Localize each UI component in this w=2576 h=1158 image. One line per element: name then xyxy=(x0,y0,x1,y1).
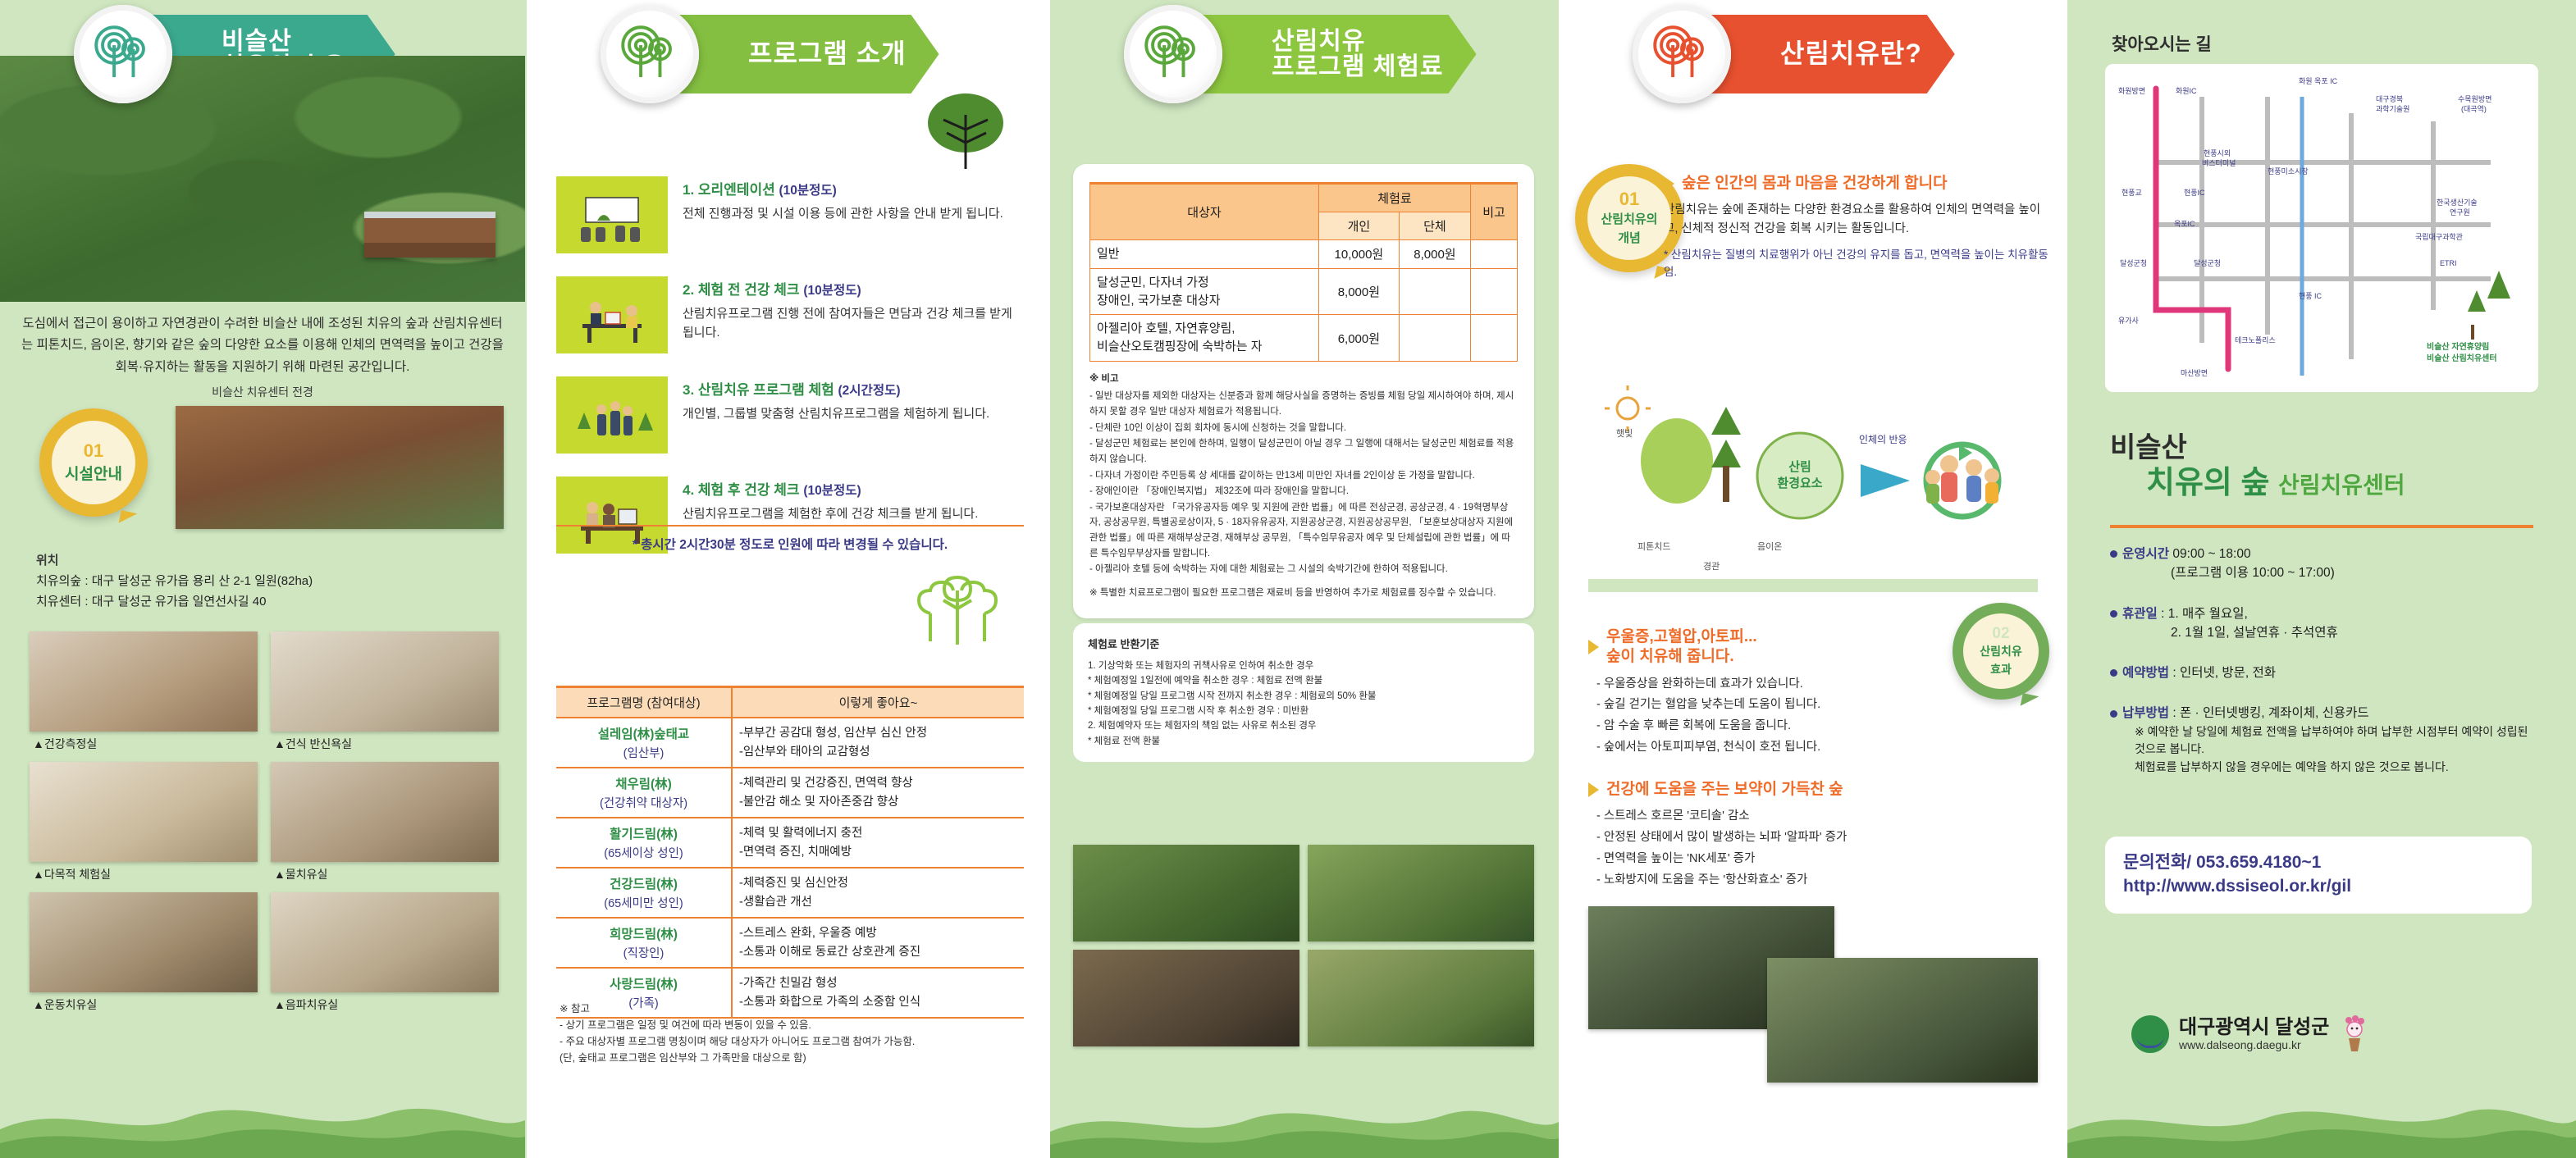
info-label: 예약방법 xyxy=(2122,666,2169,680)
concept-heading: 숲은 인간의 몸과 마음을 건강하게 합니다 xyxy=(1682,174,1948,194)
decorative-tree-icon xyxy=(920,90,1011,172)
panel3-title-line1: 산림치유 xyxy=(1272,29,1444,55)
tree-circle-logo-icon xyxy=(601,5,699,103)
program-total-time-note: * 총시간 2시간30분 정도로 인원에 따라 변경될 수 있습니다. xyxy=(556,535,1024,553)
program-benefit: -부부간 공감대 형성, 임산부 심신 안정 xyxy=(739,724,1017,742)
effect1-item: - 우울증상을 완화하는데 효과가 있습니다. xyxy=(1596,674,1982,695)
fee-target: 달성군민, 다자녀 가정 장애인, 국가보훈 대상자 xyxy=(1090,268,1319,315)
facility-thumb-caption: ▲물치유실 xyxy=(271,862,499,882)
program-name: 건강드림(林) xyxy=(563,874,724,892)
fee-header-feegroup: 체험료 xyxy=(1318,184,1470,212)
step-duration: (2시간정도) xyxy=(838,384,901,398)
step-number: 2. xyxy=(683,282,694,298)
fee-special-note: ※ 특별한 치료프로그램이 필요한 프로그램은 재료비 등을 반영하여 추가로 … xyxy=(1089,586,1518,601)
info-reservation-method: 예약방법 : 인터넷, 방문, 전화 xyxy=(2110,663,2537,682)
step-duration: (10분정도) xyxy=(803,284,861,298)
location-heading: 위치 xyxy=(36,551,496,572)
step-number: 3. xyxy=(683,382,694,398)
program-target: (65세이상 성인) xyxy=(563,844,724,861)
program-step: 1. 오리엔테이션 (10분정도) 전체 진행과정 및 시설 이용 등에 관한 … xyxy=(556,176,1024,253)
panel5-divider xyxy=(2110,525,2533,528)
effect1-heading-row: 우울증,고혈압,아토피... 숲이 치유해 줍니다. xyxy=(1588,627,1982,667)
map-label: 버스터미널 xyxy=(2202,159,2236,167)
fee-header-individual: 개인 xyxy=(1318,212,1399,240)
activity-photo xyxy=(1308,845,1534,941)
fee-target: 아젤리아 호텔, 자연휴양림, 비슬산오토캠핑장에 숙박하는 자 xyxy=(1090,315,1319,362)
fee-target: 일반 xyxy=(1090,240,1319,269)
effect1-list: - 우울증상을 완화하는데 효과가 있습니다. - 숲길 걷기는 혈압을 낮추는… xyxy=(1588,674,1982,759)
map-label: 현풍시외 xyxy=(2204,148,2231,157)
facility-thumb: ▲건식 반신욕실 xyxy=(271,631,499,752)
table-row: 희망드림(林) (직장인) -스트레스 완화, 우울증 예방 -소통과 이해로 … xyxy=(556,918,1024,968)
table-row: 설레임(林)숲태교 (임산부) -부부간 공감대 형성, 임산부 심신 안정 -… xyxy=(556,718,1024,768)
effect1-item: - 숲길 걷기는 혈압을 낮추는데 도움이 됩니다. xyxy=(1596,695,1982,716)
fee-note-item: - 다자녀 가정이란 주민등록 상 세대를 같이하는 만13세 미만인 자녀를 … xyxy=(1089,468,1518,484)
map-label: 현풍IC xyxy=(2184,189,2205,197)
center-title-line1: 비슬산 xyxy=(2110,433,2537,463)
directions-title: 찾아오시는 길 xyxy=(2112,31,2212,56)
fee-group xyxy=(1399,268,1470,315)
map-label: (대곡역) xyxy=(2461,105,2487,113)
forest-environment-diagram: 햇빛 산림 환경요소 인체의 반응 xyxy=(1588,385,2038,607)
fee-header-remark: 비고 xyxy=(1471,184,1518,240)
effect1-heading-line1: 우울증,고혈압,아토피... xyxy=(1606,628,1757,645)
fee-group xyxy=(1399,315,1470,362)
hill-decoration xyxy=(1050,1084,1559,1158)
info-sub: 2. 1월 1일, 설날연휴 · 추석연휴 xyxy=(2171,623,2537,642)
fee-individual: 6,000원 xyxy=(1318,315,1399,362)
table-row: 아젤리아 호텔, 자연휴양림, 비슬산오토캠핑장에 숙박하는 자 6,000원 xyxy=(1090,315,1518,362)
facility-thumb: ▲다목적 체험실 xyxy=(30,762,258,882)
fee-header-group: 단체 xyxy=(1399,212,1470,240)
map-label: 옥포IC xyxy=(2174,220,2195,228)
fee-note-item: - 일반 대상자를 제외한 대상자는 신분증과 함께 해당사실을 증명하는 증빙… xyxy=(1089,389,1518,419)
program-step: 3. 산림치유 프로그램 체험 (2시간정도) 개인별, 그룹별 맞춤형 산림치… xyxy=(556,376,1024,454)
map-label: 수목원방면 xyxy=(2458,95,2492,103)
fee-note-item: - 달성군민 체험료는 본인에 한하며, 일행이 달성군민이 아닐 경우 그 일… xyxy=(1089,436,1518,467)
effect-badge-number: 02 xyxy=(1992,626,2009,641)
facility-badge-number: 01 xyxy=(84,442,103,460)
table-row: 건강드림(林) (65세미만 성인) -체력증진 및 심신안정 -생활습관 개선 xyxy=(556,868,1024,918)
info-payment-note: ※ 예약한 날 당일에 체험료 전액을 납부하여야 하며 납부한 시점부터 예약… xyxy=(2135,723,2537,777)
diagram-label-right: 음이온 xyxy=(1757,541,1782,552)
tree-circle-logo-icon xyxy=(74,5,172,103)
facility-thumb-image xyxy=(271,762,499,862)
effect-badge-label-1: 산림치유 xyxy=(1980,643,2022,659)
flower-mascot-icon xyxy=(2339,1015,2370,1053)
effect2-list: - 스트레스 호르몬 '코티솔' 감소 - 안정된 상태에서 많이 발생하는 뇌… xyxy=(1588,806,1982,891)
hero-aerial-photo xyxy=(0,56,525,302)
concept-badge-number: 01 xyxy=(1619,190,1639,208)
footnote-line: - 상기 프로그램은 일정 및 여건에 따라 변동이 있을 수 있음. xyxy=(560,1017,1024,1033)
facility-thumb: ▲물치유실 xyxy=(271,762,499,882)
diagram-label-center-2: 환경요소 xyxy=(1777,476,1822,490)
panel-contact-and-map: 찾아오시는 길 xyxy=(2067,0,2576,1158)
contact-website-url[interactable]: http://www.dssiseol.or.kr/gil xyxy=(2123,875,2514,899)
facility-exterior-photo xyxy=(176,406,504,529)
program-target: (직장인) xyxy=(563,944,724,961)
healing-center-building xyxy=(364,212,496,258)
info-sub: (프로그램 이용 10:00 ~ 17:00) xyxy=(2171,563,2537,582)
info-value: : 1. 매주 월요일, xyxy=(2161,607,2248,621)
step-duration: (10분정도) xyxy=(779,184,837,198)
fee-notes: ※ 비고 - 일반 대상자를 제외한 대상자는 신분증과 함께 해당사실을 증명… xyxy=(1089,372,1518,601)
hill-decoration xyxy=(2067,1084,2576,1158)
program-name: 활기드림(林) xyxy=(563,824,724,842)
program-name: 설레임(林)숲태교 xyxy=(563,724,724,742)
program-benefit: -가족간 친밀감 형성 xyxy=(739,974,1017,992)
facility-thumb-caption: ▲건강측정실 xyxy=(30,732,258,752)
program-benefit: -스트레스 완화, 우울증 예방 xyxy=(739,924,1017,942)
fee-table: 대상자 체험료 비고 개인 단체 일반 10,000원 8,000원 xyxy=(1089,182,1518,362)
panel1-intro-text: 도심에서 접근이 용이하고 자연경관이 수려한 비슬산 내에 조성된 치유의 숲… xyxy=(0,302,525,388)
info-value: : 인터넷, 방문, 전화 xyxy=(2172,666,2276,680)
fee-note-item: - 장애인이란 「장애인복지법」 제32조에 따라 장애인을 말합니다. xyxy=(1089,484,1518,499)
map-label: 달성군청 xyxy=(2194,258,2221,267)
facility-thumb: ▲운동치유실 xyxy=(30,892,258,1013)
table-row: 활기드림(林) (65세이상 성인) -체력 및 활력에너지 충전 -면역력 증… xyxy=(556,818,1024,868)
fee-note-item: - 국가보훈대상자란 「국가유공자등 예우 및 지원에 관한 법률」에 따른 전… xyxy=(1089,500,1518,562)
activity-photo xyxy=(1308,950,1534,1046)
panel2-divider xyxy=(556,525,1024,527)
panel4-header: 산림치유란? xyxy=(1559,0,2067,107)
bullet-dot-icon xyxy=(2110,610,2117,618)
hill-decoration xyxy=(0,1084,525,1158)
forest-activity-photo xyxy=(1767,958,2038,1083)
effects-block: 우울증,고혈압,아토피... 숲이 치유해 줍니다. - 우울증상을 완화하는데… xyxy=(1588,627,1982,891)
effect2-item: - 안정된 상태에서 많이 발생하는 뇌파 '알파파' 증가 xyxy=(1596,827,1982,849)
gov-url: www.dalseong.daegu.kr xyxy=(2179,1038,2329,1051)
panel1-photo-caption: 비슬산 치유센터 전경 xyxy=(0,384,525,400)
info-closed-days: 휴관일 : 1. 매주 월요일, 2. 1월 1일, 설날연휴 · 추석연휴 xyxy=(2110,604,2537,643)
step-number: 4. xyxy=(683,482,694,498)
fee-remark xyxy=(1471,268,1518,315)
map-label: 마산방면 xyxy=(2181,369,2208,377)
effect2-heading: 건강에 도움을 주는 보약이 가득찬 숲 xyxy=(1606,780,1843,800)
facility-thumb-image xyxy=(271,892,499,992)
contact-card: 문의전화/ 053.659.4180~1 http://www.dssiseol… xyxy=(2105,837,2532,914)
map-label: 현풍교 xyxy=(2122,189,2142,197)
program-footnotes: ※ 참고 - 상기 프로그램은 일정 및 여건에 따라 변동이 있을 수 있음.… xyxy=(560,1001,1024,1066)
program-benefit: -체력관리 및 건강증진, 면역력 향상 xyxy=(739,774,1017,792)
panel4-title: 산림치유란? xyxy=(1780,40,1922,68)
footnote-line: ※ 참고 xyxy=(560,1001,1024,1017)
fee-individual: 8,000원 xyxy=(1318,268,1399,315)
effect1-item: - 숲에서는 아토피피부염, 천식이 호전 됩니다. xyxy=(1596,737,1982,759)
refund-policy-box: 체험료 반환기준 1. 기상악화 또는 체험자의 귀책사유로 인하여 취소한 경… xyxy=(1073,623,1534,762)
center-title-block: 비슬산 치유의 숲 산림치유센터 xyxy=(2110,433,2537,501)
center-title-suffix: 산림치유센터 xyxy=(2278,472,2405,498)
map-label: 국립대구과학관 xyxy=(2415,233,2463,241)
facility-thumb-image xyxy=(30,631,258,732)
program-target: (65세미만 성인) xyxy=(563,894,724,911)
map-label: 화원방면 xyxy=(2118,87,2145,95)
step-title: 오리엔테이션 xyxy=(698,182,775,198)
facility-thumb-image xyxy=(30,892,258,992)
location-map[interactable]: 화원방면 화원IC 화원 옥포 IC 대구경북 과학기술원 수목원방면 (대곡역… xyxy=(2105,64,2538,392)
program-benefit: -임산부와 태아의 교감형성 xyxy=(739,743,1017,761)
map-label: 한국생산기술 xyxy=(2437,198,2478,207)
panel-program-intro: 프로그램 소개 xyxy=(525,0,1050,1158)
concept-body: 산림치유는 숲에 존재하는 다양한 환경요소를 활용하여 인체의 면역력을 높이… xyxy=(1664,201,2049,239)
program-steps-list: 1. 오리엔테이션 (10분정도) 전체 진행과정 및 시설 이용 등에 관한 … xyxy=(556,176,1024,577)
effect2-item: - 노화방지에 도움을 주는 '항산화효소' 증가 xyxy=(1596,870,1982,891)
panel3-title-line2: 프로그램 체험료 xyxy=(1272,54,1444,80)
facility-badge-label: 시설안내 xyxy=(65,462,122,484)
panel2-title: 프로그램 소개 xyxy=(748,40,907,68)
panel-what-is-forest-healing: 산림치유란? 01 산림치유의 개념 xyxy=(1559,0,2067,1158)
gov-name: 대구광역시 달성군 xyxy=(2179,1017,2329,1038)
facility-thumb-caption: ▲운동치유실 xyxy=(30,992,258,1013)
triangle-bullet-icon xyxy=(1588,640,1599,654)
orientation-classroom-illustration xyxy=(556,176,668,253)
fee-header-target: 대상자 xyxy=(1090,184,1319,240)
health-check-desk-illustration xyxy=(556,276,668,353)
location-block: 위치 치유의숲 : 대구 달성군 유가읍 용리 산 2-1 일원(82ha) 치… xyxy=(36,551,496,612)
center-title-line2: 치유의 숲 xyxy=(2146,466,2269,500)
concept-badge-label-1: 산림치유의 xyxy=(1601,210,1657,227)
map-graphic: 화원방면 화원IC 화원 옥포 IC 대구경북 과학기술원 수목원방면 (대곡역… xyxy=(2105,64,2538,392)
info-value: : 폰 · 인터넷뱅킹, 계좌이체, 신용카드 xyxy=(2172,706,2368,720)
facility-thumb-caption: ▲건식 반신욕실 xyxy=(271,732,499,752)
map-label: 대구경북 xyxy=(2376,94,2403,103)
facility-info-badge: 01 시설안내 xyxy=(39,408,148,517)
effect1-item: - 암 수술 후 빠른 회복에 도움을 줍니다. xyxy=(1596,716,1982,737)
tree-circle-logo-icon xyxy=(1124,5,1222,103)
table-row: 일반 10,000원 8,000원 xyxy=(1090,240,1518,269)
map-label: 달성군청 xyxy=(2120,258,2147,267)
fee-group: 8,000원 xyxy=(1399,240,1470,269)
effect1-heading-line2: 숲이 치유해 줍니다. xyxy=(1606,648,1734,665)
diagram-label-immune: 인체의 반응 xyxy=(1859,434,1907,445)
fee-note-item: - 아젤리아 호텔 등에 숙박하는 자에 대한 체험료는 그 시설의 숙박기간에… xyxy=(1089,562,1518,577)
step-description: 개인별, 그룹별 맞춤형 산림치유프로그램을 체험하게 됩니다. xyxy=(683,404,1024,423)
program-name: 사랑드림(林) xyxy=(563,974,724,992)
map-label: 테크노폴리스 xyxy=(2235,336,2276,344)
effect2-heading-row: 건강에 도움을 주는 보약이 가득찬 숲 xyxy=(1588,780,1982,800)
program-benefit: -체력 및 활력에너지 충전 xyxy=(739,824,1017,842)
map-label: 화원IC xyxy=(2176,87,2197,95)
forest-program-group-illustration xyxy=(556,376,668,454)
concept-block: 숲은 인간의 몸과 마음을 건강하게 합니다 산림치유는 숲에 존재하는 다양한… xyxy=(1664,174,2049,281)
fee-remark xyxy=(1471,315,1518,362)
info-payment-method: 납부방법 : 폰 · 인터넷뱅킹, 계좌이체, 신용카드 ※ 예약한 날 당일에… xyxy=(2110,704,2537,776)
program-table-header-benefit: 이렇게 좋아요~ xyxy=(732,687,1024,718)
step-description: 산림치유프로그램 진행 전에 참여자들은 면담과 건강 체크를 받게 됩니다. xyxy=(683,304,1024,343)
triangle-bullet-icon xyxy=(1588,782,1599,797)
footnote-line: (단, 숲태교 프로그램은 임산부와 그 가족만을 대상으로 함) xyxy=(560,1050,1024,1066)
facility-thumb-image xyxy=(30,762,258,862)
effect-badge-label-2: 효과 xyxy=(1990,661,2012,677)
map-label: ETRI xyxy=(2440,259,2457,267)
fee-remark xyxy=(1471,240,1518,269)
map-label: 화원 옥포 IC xyxy=(2299,77,2338,85)
location-line-2: 치유센터 : 대구 달성군 유가읍 일연선사길 40 xyxy=(36,592,496,613)
diagram-label-left: 피톤치드 xyxy=(1637,541,1670,552)
refund-item: * 체험예정일 당일 프로그램 시작 후 취소한 경우 : 미반환 xyxy=(1088,704,1519,718)
program-target: (임산부) xyxy=(563,744,724,761)
diagram-label-bottom: 경관 xyxy=(1703,561,1720,572)
panel-experience-fee: 산림치유 프로그램 체험료 대상자 체험료 xyxy=(1050,0,1559,1158)
program-name: 희망드림(林) xyxy=(563,924,724,942)
facility-thumb: ▲음파치유실 xyxy=(271,892,499,1013)
facility-thumb-image xyxy=(271,631,499,732)
step-title: 체험 전 건강 체크 xyxy=(698,282,800,298)
step-description: 산림치유프로그램을 체험한 후에 건강 체크를 받게 됩니다. xyxy=(683,504,1024,523)
panel-about-forest: 비슬산 치유의 숲은? 도심에서 접근이 용이하고 자연경관이 수려한 비슬산 … xyxy=(0,0,525,1158)
contact-phone[interactable]: 문의전화/ 053.659.4180~1 xyxy=(2123,851,2514,875)
facility-thumbnail-grid: ▲건강측정실 ▲건식 반신욕실 ▲다목적 체험실 ▲물치유실 ▲운동치유실 ▲음… xyxy=(30,631,499,1013)
refund-item: * 체험예정일 1일전에 예약을 취소한 경우 : 체험료 전액 환불 xyxy=(1088,673,1519,688)
concept-heading-row: 숲은 인간의 몸과 마음을 건강하게 합니다 xyxy=(1664,174,2049,194)
info-label: 납부방법 xyxy=(2122,706,2169,720)
map-label: 유가사 xyxy=(2118,317,2140,325)
info-value: 09:00 ~ 18:00 xyxy=(2172,547,2250,561)
fee-note-item: - 단체란 10인 이상이 집회 회차에 동시에 신청하는 것을 말합니다. xyxy=(1089,421,1518,436)
center-info-list: 운영시간 09:00 ~ 18:00 (프로그램 이용 10:00 ~ 17:0… xyxy=(2110,545,2537,798)
tree-circle-logo-icon xyxy=(1633,5,1731,103)
program-benefit: -체력증진 및 심신안정 xyxy=(739,874,1017,892)
facility-thumb: ▲건강측정실 xyxy=(30,631,258,752)
dalseong-gun-emblem-icon xyxy=(2131,1015,2169,1053)
map-label: 과학기술원 xyxy=(2376,105,2409,113)
info-label: 휴관일 xyxy=(2122,607,2158,621)
map-destination-label-2: 비슬산 산림치유센터 xyxy=(2427,353,2497,363)
activity-photo xyxy=(1073,845,1299,941)
program-target: (건강취약 대상자) xyxy=(563,794,724,811)
footnote-line: - 주요 대상자별 프로그램 명칭이며 해당 대상자가 아니어도 프로그램 참여… xyxy=(560,1033,1024,1050)
three-trees-icon xyxy=(912,566,1003,648)
activity-photo-grid xyxy=(1073,845,1534,1046)
brochure-root: 비슬산 치유의 숲은? 도심에서 접근이 용이하고 자연경관이 수려한 비슬산 … xyxy=(0,0,2576,1158)
program-benefit: -생활습관 개선 xyxy=(739,893,1017,911)
diagram-label-center-1: 산림 xyxy=(1788,459,1811,474)
step-duration: (10분정도) xyxy=(803,484,861,498)
step-title: 체험 후 건강 체크 xyxy=(698,482,800,498)
triangle-bullet-icon xyxy=(1664,176,1674,191)
panel1-title-line1: 비슬산 xyxy=(222,29,363,55)
concept-note: * 산림치유는 질병의 치료행위가 아닌 건강의 유지를 돕고, 면역력을 높이… xyxy=(1664,247,2049,281)
program-table-header-name: 프로그램명 (참여대상) xyxy=(556,687,732,718)
refund-item: * 체험예정일 당일 프로그램 시작 전까지 취소한 경우 : 체험료의 50%… xyxy=(1088,689,1519,704)
step-title: 산림치유 프로그램 체험 xyxy=(698,382,834,398)
refund-item: * 체험료 전액 환불 xyxy=(1088,734,1519,749)
map-label: 현풍 IC xyxy=(2299,292,2323,300)
facility-thumb-caption: ▲다목적 체험실 xyxy=(30,862,258,882)
panel3-header: 산림치유 프로그램 체험료 xyxy=(1050,0,1559,107)
info-label: 운영시간 xyxy=(2122,547,2169,561)
diagram-label-sun: 햇빛 xyxy=(1616,428,1633,439)
fee-card: 대상자 체험료 비고 개인 단체 일반 10,000원 8,000원 xyxy=(1073,164,1534,618)
program-name: 채우림(林) xyxy=(563,774,724,792)
fee-notes-heading: ※ 비고 xyxy=(1089,372,1518,387)
concept-badge-label-2: 개념 xyxy=(1618,229,1641,246)
info-operating-hours: 운영시간 09:00 ~ 18:00 (프로그램 이용 10:00 ~ 17:0… xyxy=(2110,545,2537,583)
refund-item: 1. 기상악화 또는 체험자의 귀책사유로 인하여 취소한 경우 xyxy=(1088,659,1519,673)
effect2-item: - 면역력을 높이는 'NK세포' 증가 xyxy=(1596,849,1982,870)
program-benefit: -소통과 이해로 동료간 상호관계 증진 xyxy=(739,943,1017,961)
table-row: 달성군민, 다자녀 가정 장애인, 국가보훈 대상자 8,000원 xyxy=(1090,268,1518,315)
program-benefits-table: 프로그램명 (참여대상) 이렇게 좋아요~ 설레임(林)숲태교 (임산부) -부… xyxy=(556,686,1024,1019)
forest-activity-photos xyxy=(1588,906,2038,1083)
step-number: 1. xyxy=(683,182,694,198)
program-step: 2. 체험 전 건강 체크 (10분정도) 산림치유프로그램 진행 전에 참여자… xyxy=(556,276,1024,353)
refund-item: 2. 체험예약자 또는 체험자의 책임 없는 사유로 취소된 경우 xyxy=(1088,718,1519,733)
bullet-dot-icon xyxy=(2110,550,2117,558)
refund-heading: 체험료 반환기준 xyxy=(1088,636,1519,654)
bullet-dot-icon xyxy=(2110,669,2117,677)
bullet-dot-icon xyxy=(2110,710,2117,718)
effect2-item: - 스트레스 호르몬 '코티솔' 감소 xyxy=(1596,806,1982,827)
map-destination-label-1: 비슬산 자연휴양림 xyxy=(2427,341,2489,352)
government-logo-block: 대구광역시 달성군 www.dalseong.daegu.kr xyxy=(2131,1015,2370,1053)
program-benefit: -불안감 해소 및 자아존중감 향상 xyxy=(739,793,1017,811)
activity-photo xyxy=(1073,950,1299,1046)
step-description: 전체 진행과정 및 시설 이용 등에 관한 사항을 안내 받게 됩니다. xyxy=(683,204,1024,223)
map-label: 현풍미소시장 xyxy=(2268,167,2309,176)
table-row: 채우림(林) (건강취약 대상자) -체력관리 및 건강증진, 면역력 향상 -… xyxy=(556,768,1024,818)
location-line-1: 치유의숲 : 대구 달성군 유가읍 용리 산 2-1 일원(82ha) xyxy=(36,572,496,592)
facility-thumb-caption: ▲음파치유실 xyxy=(271,992,499,1013)
map-label: 연구원 xyxy=(2450,208,2470,217)
program-benefit: -면역력 증진, 치매예방 xyxy=(739,843,1017,861)
fee-individual: 10,000원 xyxy=(1318,240,1399,269)
